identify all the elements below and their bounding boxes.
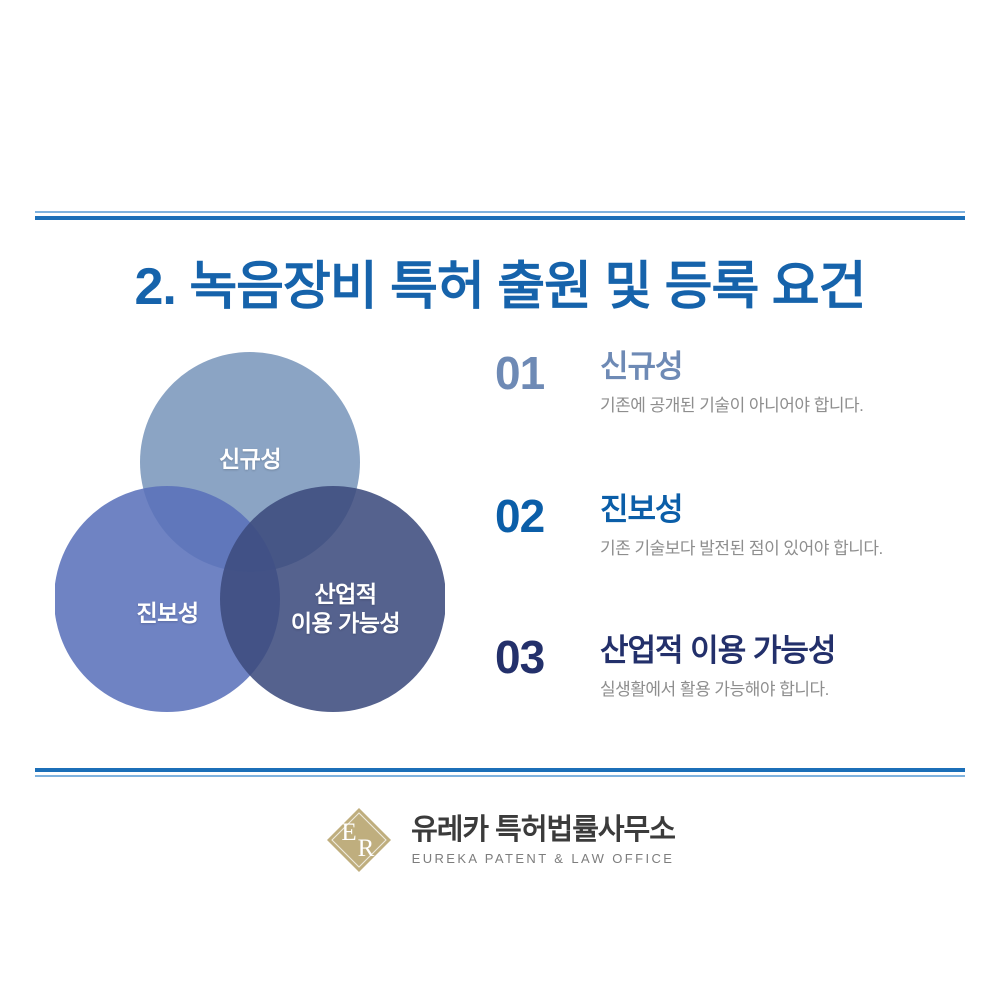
footer-name-block: 유레카 특허법률사무소 EUREKA PATENT & LAW OFFICE [411, 814, 675, 866]
venn-label-inventive: 진보성 [90, 599, 245, 628]
logo-letter-r: R [358, 835, 375, 862]
item-description-02: 기존 기술보다 발전된 점이 있어야 합니다. [600, 534, 955, 559]
item-title-03: 산업적 이용 가능성 [600, 634, 955, 668]
venn-label-industrial-line1: 산업적 [258, 580, 433, 609]
item-body-01: 신규성 기존에 공개된 기술이 아니어야 합니다. [600, 350, 955, 416]
requirements-list: 01 신규성 기존에 공개된 기술이 아니어야 합니다. 02 진보성 기존 기… [495, 350, 955, 744]
logo-letter-e: E [341, 819, 356, 846]
item-number-01: 01 [495, 350, 573, 396]
venn-label-industrial-line2: 이용 가능성 [258, 609, 433, 638]
list-item: 01 신규성 기존에 공개된 기술이 아니어야 합니다. [495, 350, 955, 460]
item-body-03: 산업적 이용 가능성 실생활에서 활용 가능해야 합니다. [600, 634, 955, 700]
footer-logo-block: E R 유레카 특허법률사무소 EUREKA PATENT & LAW OFFI… [0, 806, 1000, 874]
item-body-02: 진보성 기존 기술보다 발전된 점이 있어야 합니다. [600, 493, 955, 559]
venn-label-industrial: 산업적 이용 가능성 [258, 580, 433, 639]
list-item: 02 진보성 기존 기술보다 발전된 점이 있어야 합니다. [495, 493, 955, 603]
item-title-01: 신규성 [600, 350, 955, 384]
page-title: 2. 녹음장비 특허 출원 및 등록 요건 [0, 244, 1000, 319]
venn-diagram: 신규성 진보성 산업적 이용 가능성 [55, 352, 445, 732]
top-rule-thick-line [35, 216, 965, 220]
bottom-divider-rule [35, 768, 965, 777]
diamond-monogram-icon: E R [325, 806, 393, 874]
footer-name-english: EUREKA PATENT & LAW OFFICE [411, 851, 675, 866]
item-number-03: 03 [495, 634, 573, 680]
item-number-02: 02 [495, 493, 573, 539]
venn-label-novelty: 신규성 [180, 445, 320, 474]
footer-name-korean: 유레카 특허법률사무소 [411, 814, 675, 847]
bottom-rule-thin-line [35, 775, 965, 777]
item-description-01: 기존에 공개된 기술이 아니어야 합니다. [600, 391, 955, 416]
venn-circles-svg [55, 352, 445, 732]
list-item: 03 산업적 이용 가능성 실생활에서 활용 가능해야 합니다. [495, 634, 955, 744]
top-divider-rule [35, 211, 965, 220]
item-title-02: 진보성 [600, 493, 955, 527]
item-description-03: 실생활에서 활용 가능해야 합니다. [600, 675, 955, 700]
